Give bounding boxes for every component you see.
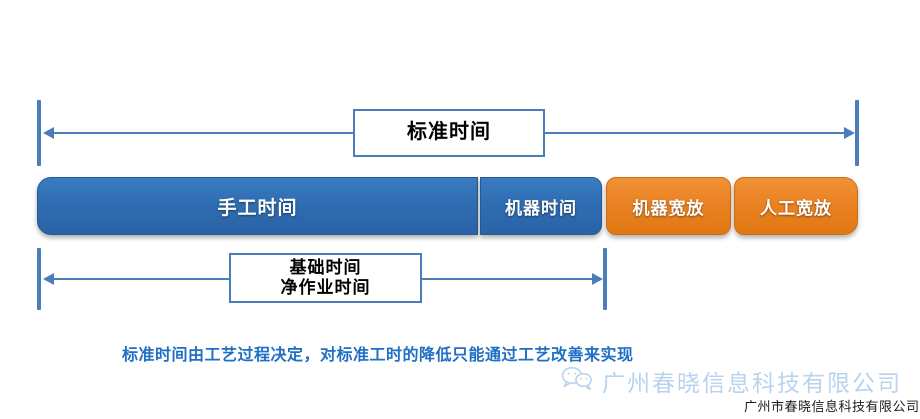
top-bracket-left-line [54, 132, 353, 134]
bottom-bracket-right-arrowhead [592, 273, 603, 285]
diagram-caption: 标准时间由工艺过程决定，对标准工时的降低只能通过工艺改善来实现 [122, 341, 634, 365]
basic-time-box: 基础时间 净作业时间 [229, 253, 422, 303]
watermark: 广州春晓信息科技有限公司 [560, 364, 902, 398]
bar-machine-allowance[interactable]: 机器宽放 [606, 177, 731, 235]
footer-company-name: 广州市春晓信息科技有限公司 [744, 396, 920, 415]
watermark-text: 广州春晓信息科技有限公司 [602, 364, 902, 398]
bar-manual-time[interactable]: 手工时间 [37, 177, 478, 235]
bar-machine-allowance-label: 机器宽放 [633, 194, 705, 219]
bar-machine-time[interactable]: 机器时间 [480, 177, 602, 235]
net-operation-time-label: 净作业时间 [281, 278, 371, 298]
diagram-canvas: 标准时间 手工时间 机器时间 机器宽放 人工宽放 基础时间 净作业时间 标准时间… [0, 0, 920, 419]
top-bracket-right-cap [855, 100, 859, 166]
bottom-bracket-right-line [421, 278, 593, 280]
standard-time-label: 标准时间 [407, 121, 491, 145]
bottom-bracket-left-cap [37, 248, 41, 310]
bottom-bracket-left-arrowhead [43, 273, 54, 285]
top-bracket-right-line [545, 132, 844, 134]
wechat-bubbles-icon [560, 365, 594, 397]
top-bracket-left-arrowhead [43, 127, 54, 139]
bar-manual-time-label: 手工时间 [217, 193, 297, 220]
bottom-bracket-left-line [54, 278, 229, 280]
bar-manual-allowance-label: 人工宽放 [760, 194, 832, 219]
bottom-bracket-right-cap [603, 248, 607, 310]
standard-time-box: 标准时间 [353, 109, 545, 157]
top-bracket-left-cap [37, 100, 41, 166]
bar-machine-time-label: 机器时间 [505, 194, 577, 219]
top-bracket-right-arrowhead [844, 127, 855, 139]
basic-time-label: 基础时间 [290, 258, 362, 278]
bar-manual-allowance[interactable]: 人工宽放 [734, 177, 858, 235]
